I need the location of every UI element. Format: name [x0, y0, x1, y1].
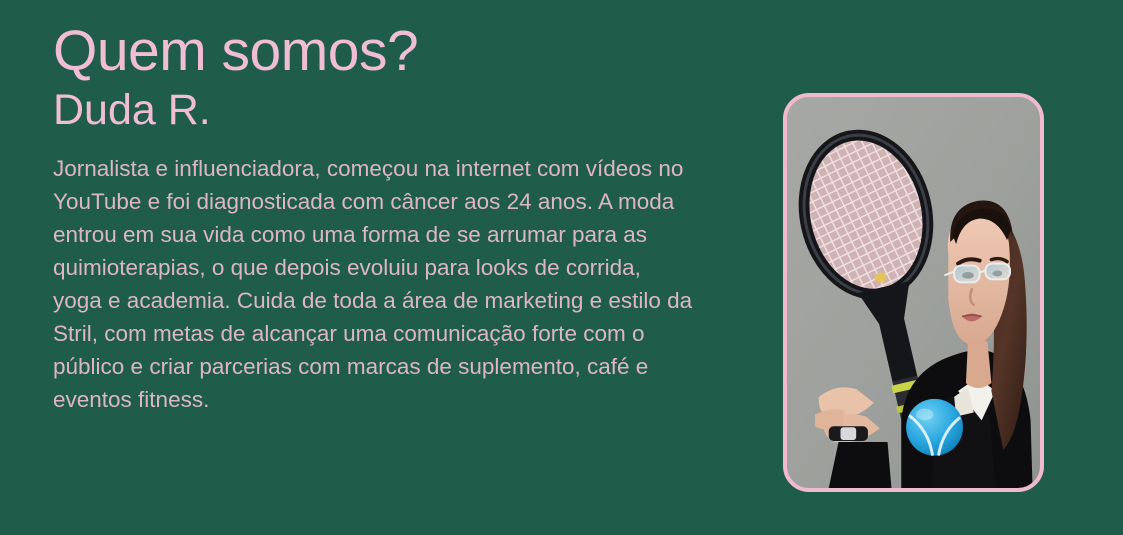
tennis-portrait-illustration: [787, 97, 1040, 488]
profile-photo: [787, 97, 1040, 488]
about-us-slide: Quem somos? Duda R. Jornalista e influen…: [0, 0, 1123, 535]
text-column: Quem somos? Duda R. Jornalista e influen…: [53, 22, 713, 416]
person-name-heading: Duda R.: [53, 87, 713, 134]
page-title: Quem somos?: [53, 22, 713, 81]
profile-photo-frame: [783, 93, 1044, 492]
person-biography-text: Jornalista e influenciadora, começou na …: [53, 152, 693, 416]
